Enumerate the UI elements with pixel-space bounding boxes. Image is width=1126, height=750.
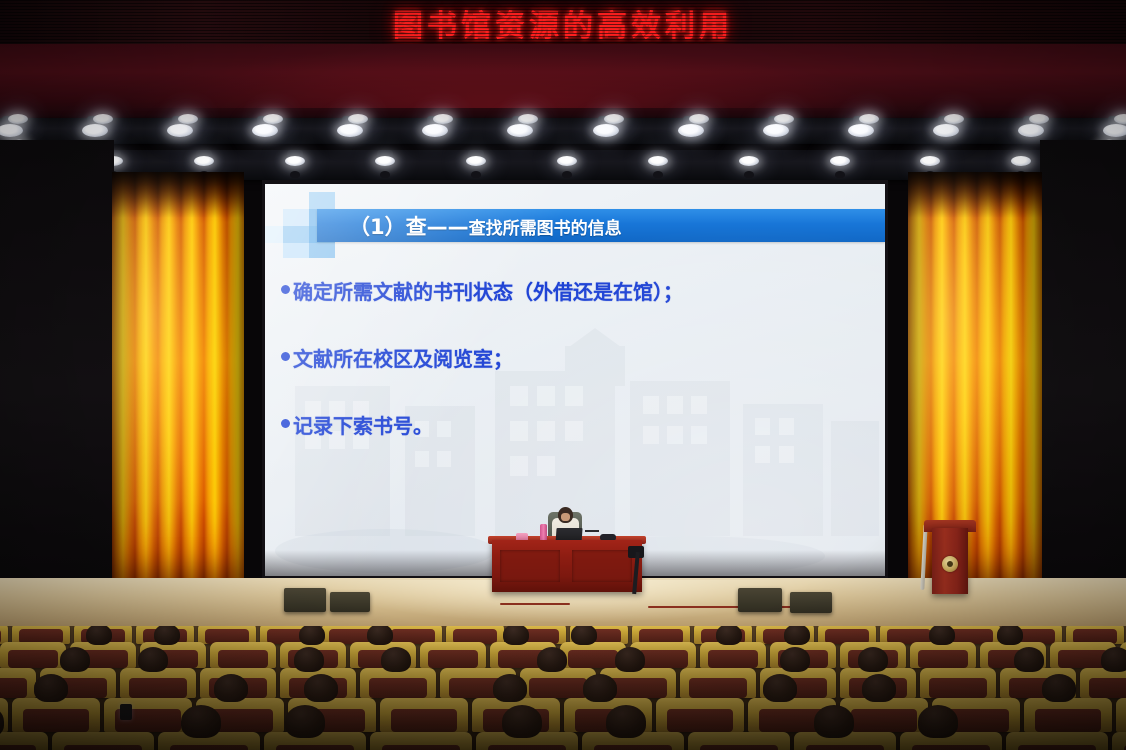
audience-member-head [86, 626, 112, 645]
desk-panel-left [500, 550, 560, 582]
seat-cushion [170, 745, 248, 750]
auditorium-scene: 图书馆资源的高效利用 [0, 0, 1126, 750]
stage-monitor-speaker [284, 588, 326, 612]
spotlight-icon [739, 156, 759, 166]
audience-member-head [814, 705, 854, 738]
auditorium-seat [0, 668, 36, 698]
auditorium-seat [688, 732, 790, 750]
spotlight-icon [593, 124, 619, 137]
spotlight-icon [933, 124, 959, 137]
audience-member-head [1101, 647, 1126, 672]
audience-phone [120, 704, 132, 720]
auditorium-seat [1112, 732, 1126, 750]
seat-cushion [382, 745, 460, 750]
podium-emblem-icon [942, 556, 958, 572]
seat-cushion [369, 678, 427, 698]
audience-member-head [299, 626, 325, 645]
seat-cushion [0, 678, 27, 698]
curtain-shadow-right [908, 172, 1042, 218]
seat-cushion [391, 709, 458, 732]
seat-cushion [806, 745, 884, 750]
audience-member-head [858, 647, 888, 672]
audience-member-head [502, 705, 542, 738]
audience-member-head [784, 626, 810, 645]
audience-member-head [181, 705, 221, 738]
audience-member-head [780, 647, 810, 672]
audience-member-head [1014, 647, 1044, 672]
auditorium-seat [420, 642, 486, 668]
spotlight-icon [178, 114, 198, 124]
spotlight-icon [944, 114, 964, 124]
lamp-yoke [835, 171, 845, 178]
seat-cushion [851, 709, 918, 732]
spotlight-icon [859, 114, 879, 124]
list-item: 文献所在校区及阅览室； [281, 343, 875, 372]
slide-title-text: （1）查——查找所需图书的信息 [349, 211, 622, 241]
audience-member-head [34, 674, 68, 702]
seat-cushion [64, 745, 142, 750]
seat-cushion [23, 709, 90, 732]
audience-member-head [493, 674, 527, 702]
spotlight-icon [285, 156, 305, 166]
lamp-yoke [290, 171, 300, 178]
audience-member-head [1042, 674, 1076, 702]
slide-bullet-list: 确定所需文献的书刊状态（外借还是在馆）； 文献所在校区及阅览室； 记录下索书号。 [281, 276, 875, 477]
bullet-text: 记录下索书号。 [293, 410, 433, 439]
spotlight-icon [557, 156, 577, 166]
audience-member-head [154, 626, 180, 645]
auditorium-seat [120, 668, 196, 698]
gold-curtain-left [112, 172, 244, 592]
spotlight-icon [678, 124, 704, 137]
spotlight-icon [848, 124, 874, 137]
led-banner-text: 图书馆资源的高效利用 [0, 1, 1126, 45]
seat-cushion [276, 745, 354, 750]
seat-cushion [1035, 709, 1102, 732]
seat-cushion [1018, 745, 1096, 750]
seat-cushion [568, 650, 618, 668]
spotlight-icon [93, 114, 113, 124]
seat-cushion [918, 650, 968, 668]
lamp-yoke [744, 171, 754, 178]
audience-member-head [929, 626, 955, 645]
bullet-dot-icon [281, 352, 290, 361]
bullet-dot-icon [281, 419, 290, 428]
audience-member-head [60, 647, 90, 672]
spotlight-icon [689, 114, 709, 124]
audience-member-head [606, 705, 646, 738]
stage-monitor-speaker [738, 588, 782, 612]
auditorium-seat [700, 642, 766, 668]
desk-microphone [585, 530, 599, 532]
spotlight-icon [830, 156, 850, 166]
audience-member-head [862, 674, 896, 702]
seat-cushion [667, 709, 734, 732]
spotlight-icon [1103, 124, 1126, 137]
spotlight-icon [774, 114, 794, 124]
seat-cushion [609, 678, 667, 698]
audience-member-head [615, 647, 645, 672]
stage-wall-right [1040, 140, 1126, 592]
seat-cushion [8, 650, 58, 668]
bullet-text: 文献所在校区及阅览室； [293, 343, 513, 372]
auditorium-seat [360, 668, 436, 698]
audience-member-head [503, 626, 529, 645]
audience-member-head [537, 647, 567, 672]
lamp-yoke [653, 171, 663, 178]
seat-cushion [488, 745, 566, 750]
audience-member-head [138, 647, 168, 672]
auditorium-seat [1116, 698, 1126, 732]
audience-member-head [367, 626, 393, 645]
auditorium-seat [0, 642, 66, 668]
seat-cushion [529, 678, 587, 698]
lamp-yoke [562, 171, 572, 178]
slide-title-bar: （1）查——查找所需图书的信息 [317, 209, 885, 242]
audience-member-head [285, 705, 325, 738]
audience-member-head [304, 674, 338, 702]
seat-cushion [638, 650, 688, 668]
spotlight-icon [1029, 114, 1049, 124]
audience-member-head [294, 647, 324, 672]
auditorium-seat [52, 732, 154, 750]
seat-cushion [129, 678, 187, 698]
auditorium-seat [12, 698, 100, 732]
upper-wall-sheen [120, 46, 880, 108]
bullet-text: 确定所需文献的书刊状态（外借还是在馆）； [293, 276, 683, 305]
audience-member-head [583, 674, 617, 702]
seat-cushion [218, 650, 268, 668]
seat-cushion [708, 650, 758, 668]
presenter-desk [492, 540, 642, 592]
seat-cushion [689, 678, 747, 698]
seat-cushion [0, 629, 1, 644]
auditorium-seat [104, 698, 192, 732]
auditorium-seat [370, 732, 472, 750]
seat-cushion [0, 745, 36, 750]
spotlight-icon [194, 156, 214, 166]
audience-member-head [381, 647, 411, 672]
slide-title-suffix: 查找所需图书的信息 [469, 219, 622, 239]
spotlight-icon [82, 124, 108, 137]
spotlight-icon [8, 114, 28, 124]
audience-seating [0, 626, 1126, 750]
audience-member-head [214, 674, 248, 702]
audience-member-head [997, 626, 1023, 645]
auditorium-seat [656, 698, 744, 732]
seat-cushion [929, 678, 987, 698]
audience-member-head [716, 626, 742, 645]
auditorium-seat [0, 732, 48, 750]
audience-member-head [918, 705, 958, 738]
auditorium-seat [910, 642, 976, 668]
bullet-dot-icon [281, 285, 290, 294]
lamp-yoke [471, 171, 481, 178]
spotlight-icon [604, 114, 624, 124]
speaker-face [561, 513, 570, 521]
seat-cushion [594, 745, 672, 750]
lamp-yoke [380, 171, 390, 178]
seat-cushion [428, 650, 478, 668]
auditorium-seat [1080, 668, 1126, 698]
auditorium-seat [920, 668, 996, 698]
desk-panel-right [572, 550, 632, 582]
stage-monitor-speaker [790, 592, 832, 613]
audience-member-head [571, 626, 597, 645]
spotlight-icon [167, 124, 193, 137]
seat-cushion [912, 745, 990, 750]
spotlight-icon [1018, 124, 1044, 137]
curtain-glow-left [112, 172, 244, 592]
seat-cushion [700, 745, 778, 750]
seat-cushion [1089, 678, 1126, 698]
stage-monitor-speaker [330, 592, 370, 612]
list-item: 确定所需文献的书刊状态（外借还是在馆）； [281, 276, 875, 305]
auditorium-seat [1024, 698, 1112, 732]
stage-wall-left [0, 140, 114, 592]
auditorium-seat [380, 698, 468, 732]
slide-title-prefix: （1）查—— [349, 215, 469, 239]
spotlight-icon [648, 156, 668, 166]
auditorium-seat [1006, 732, 1108, 750]
curtain-shadow-left [112, 172, 244, 218]
spotlight-icon [763, 124, 789, 137]
audience-member-head [763, 674, 797, 702]
auditorium-seat [210, 642, 276, 668]
auditorium-seat [680, 668, 756, 698]
list-item: 记录下索书号。 [281, 410, 875, 439]
floor-cable [500, 603, 570, 605]
